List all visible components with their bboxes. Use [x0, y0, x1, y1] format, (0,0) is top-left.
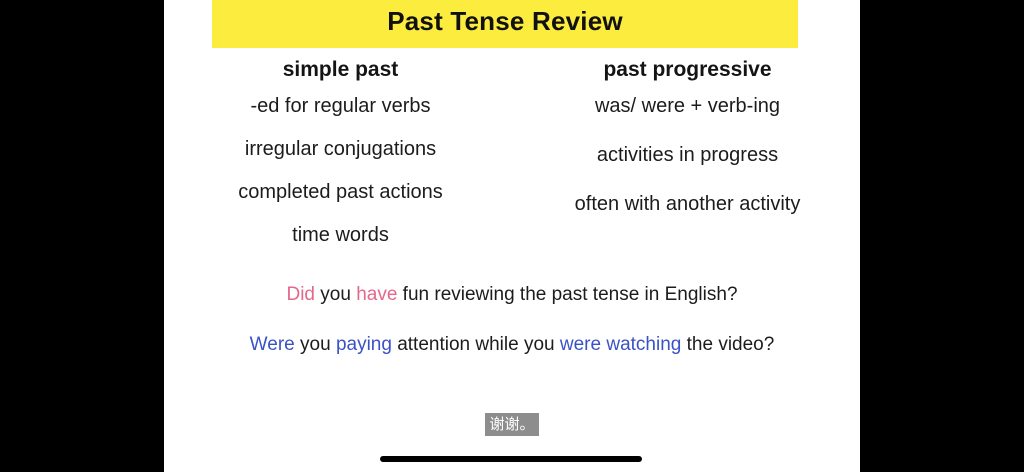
- home-indicator[interactable]: [380, 456, 642, 462]
- column-heading-past-progressive: past progressive: [515, 58, 860, 82]
- letterbox-left: [0, 0, 164, 472]
- caption-text: 谢谢。: [485, 413, 538, 436]
- plain-text: you: [295, 334, 336, 355]
- list-item: was/ were + verb-ing: [515, 94, 860, 118]
- plain-text: the video?: [681, 334, 774, 355]
- question-line-1: Did you have fun reviewing the past tens…: [164, 283, 860, 307]
- slide-content[interactable]: Past Tense Review simple past -ed for re…: [164, 0, 860, 472]
- plain-text: fun reviewing the past tense in English?: [397, 284, 737, 305]
- list-item: activities in progress: [515, 143, 860, 167]
- slide-title-banner: Past Tense Review: [212, 0, 798, 48]
- highlighted-word: were watching: [560, 334, 681, 355]
- highlighted-word: Did: [286, 284, 315, 305]
- list-item: irregular conjugations: [168, 137, 513, 161]
- list-item: time words: [168, 223, 513, 247]
- plain-text: attention while you: [392, 334, 560, 355]
- page-title: Past Tense Review: [387, 6, 623, 37]
- list-item: -ed for regular verbs: [168, 94, 513, 118]
- column-past-progressive: past progressive was/ were + verb-ing ac…: [513, 58, 860, 247]
- list-item: often with another activity: [515, 192, 860, 216]
- letterbox-right: [860, 0, 1024, 472]
- highlighted-word: have: [356, 284, 397, 305]
- question-line-2: Were you paying attention while you were…: [164, 333, 860, 357]
- column-heading-simple-past: simple past: [168, 58, 513, 82]
- plain-text: you: [315, 284, 356, 305]
- grammar-columns: simple past -ed for regular verbs irregu…: [164, 58, 860, 247]
- column-simple-past: simple past -ed for regular verbs irregu…: [164, 58, 513, 247]
- highlighted-word: Were: [250, 334, 295, 355]
- video-player-screen: Past Tense Review simple past -ed for re…: [0, 0, 1024, 472]
- subtitle-caption: 谢谢。: [164, 413, 860, 436]
- review-questions: Did you have fun reviewing the past tens…: [164, 283, 860, 357]
- highlighted-word: paying: [336, 334, 392, 355]
- list-item: completed past actions: [168, 180, 513, 204]
